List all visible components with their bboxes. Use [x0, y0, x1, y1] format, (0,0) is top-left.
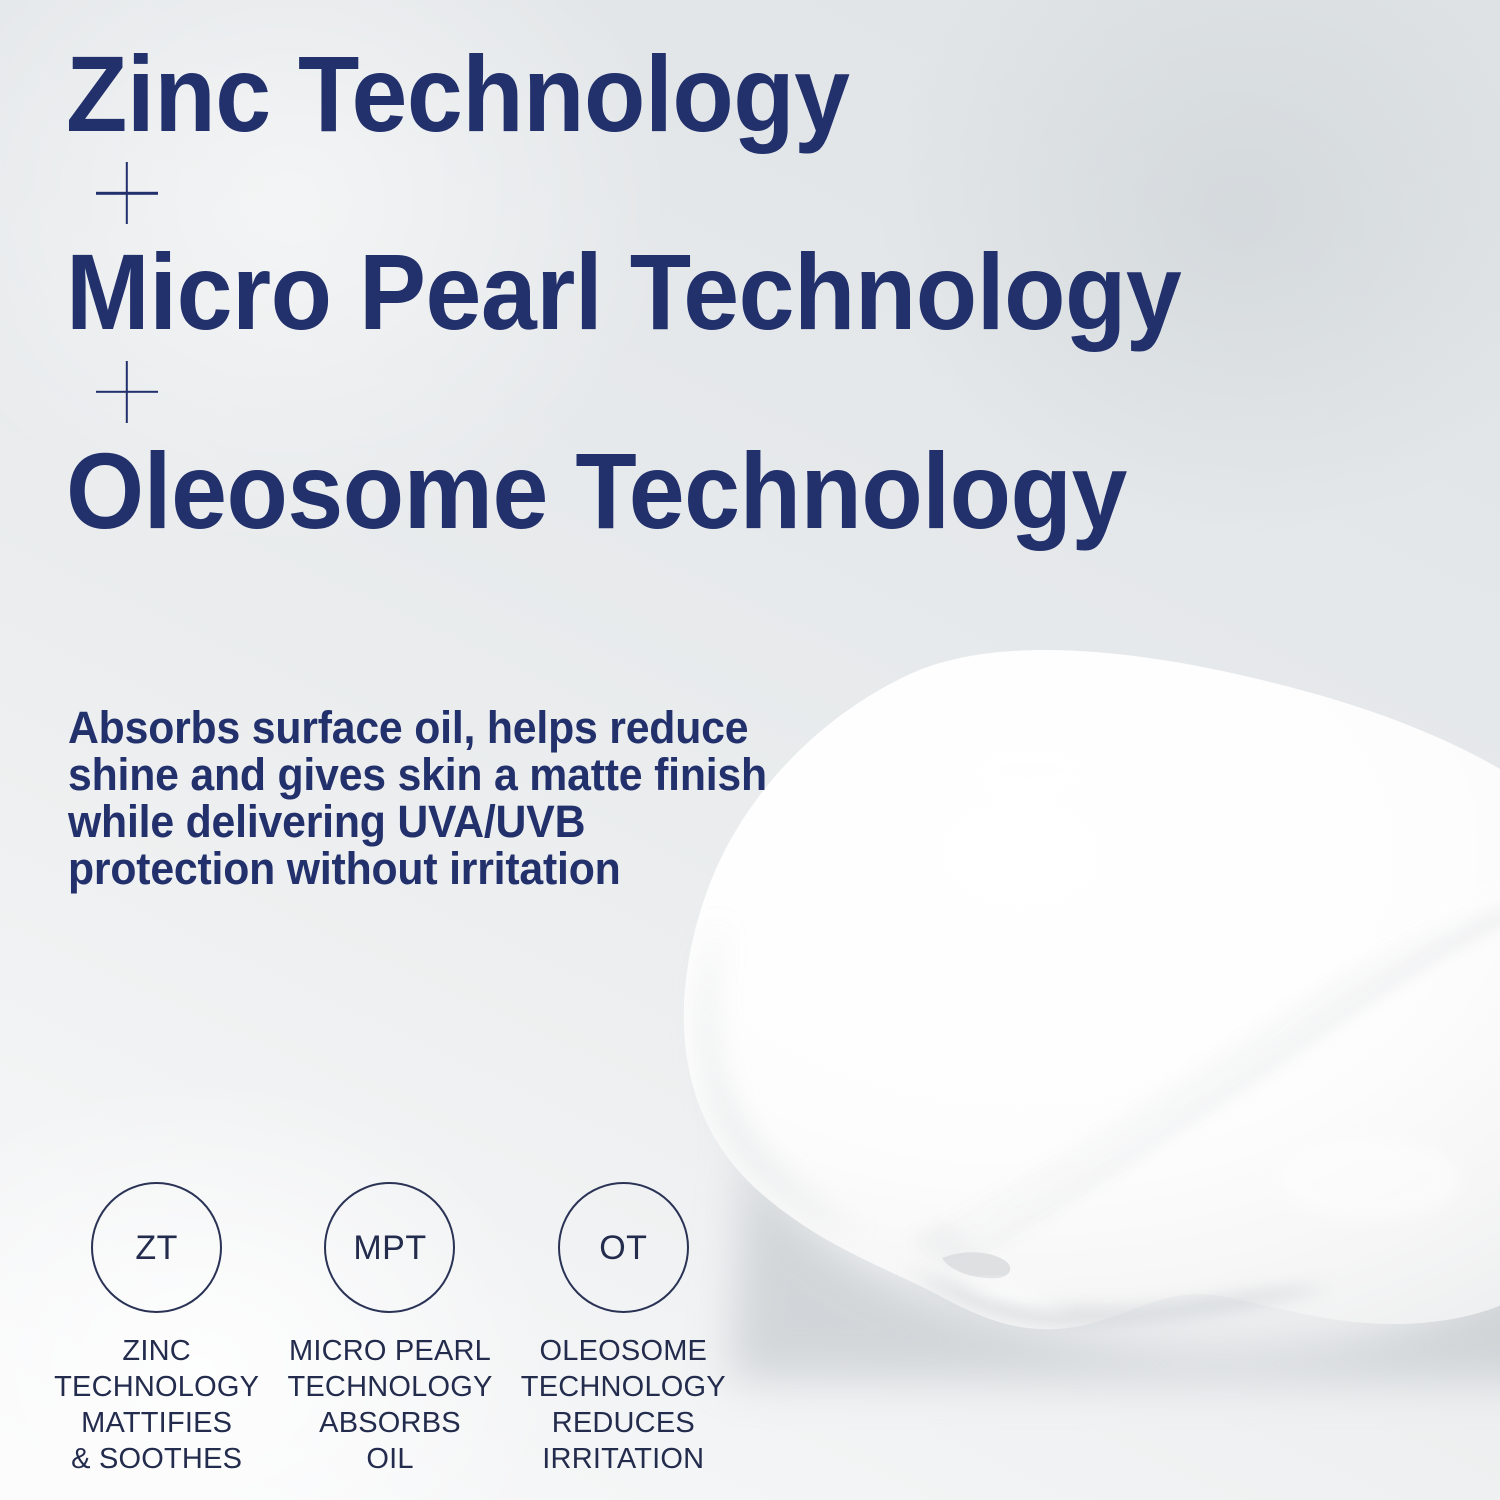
plus-icon: [96, 162, 158, 224]
headline-oleosome-technology: Oleosome Technology: [66, 441, 1349, 541]
badge-caption-zt: ZINC TECHNOLOGY MATTIFIES & SOOTHES: [54, 1333, 259, 1477]
body-copy-line: protection without irritation: [68, 845, 676, 892]
headline-zinc-technology: Zinc Technology: [66, 44, 1349, 144]
body-copy-line: shine and gives skin a matte finish: [68, 751, 676, 798]
badge-abbr-mpt: MPT: [353, 1231, 426, 1265]
body-copy: Absorbs surface oil, helps reduce shine …: [68, 704, 676, 892]
badge-circle-zt: ZT: [91, 1182, 222, 1313]
badge-micro-pearl-technology: MPT MICRO PEARL TECHNOLOGY ABSORBS OIL: [273, 1182, 506, 1477]
badge-caption-ot: OLEOSOME TECHNOLOGY REDUCES IRRITATION: [521, 1333, 726, 1477]
badge-abbr-ot: OT: [599, 1231, 647, 1265]
badge-circle-ot: OT: [558, 1182, 689, 1313]
technology-badge-row: ZT ZINC TECHNOLOGY MATTIFIES & SOOTHES M…: [40, 1182, 740, 1477]
badge-circle-mpt: MPT: [324, 1182, 455, 1313]
headline-stack: Zinc Technology Micro Pearl Technology O…: [66, 44, 1446, 541]
product-feature-graphic: Zinc Technology Micro Pearl Technology O…: [0, 0, 1500, 1500]
headline-micro-pearl-technology: Micro Pearl Technology: [66, 242, 1349, 342]
badge-oleosome-technology: OT OLEOSOME TECHNOLOGY REDUCES IRRITATIO…: [507, 1182, 740, 1477]
badge-abbr-zt: ZT: [135, 1231, 178, 1265]
body-copy-line: while delivering UVA/UVB: [68, 798, 676, 845]
separator-row-2: [66, 343, 1446, 441]
separator-row-1: [66, 144, 1446, 242]
badge-caption-mpt: MICRO PEARL TECHNOLOGY ABSORBS OIL: [287, 1333, 492, 1477]
plus-icon: [96, 361, 158, 423]
badge-zinc-technology: ZT ZINC TECHNOLOGY MATTIFIES & SOOTHES: [40, 1182, 273, 1477]
body-copy-line: Absorbs surface oil, helps reduce: [68, 704, 676, 751]
